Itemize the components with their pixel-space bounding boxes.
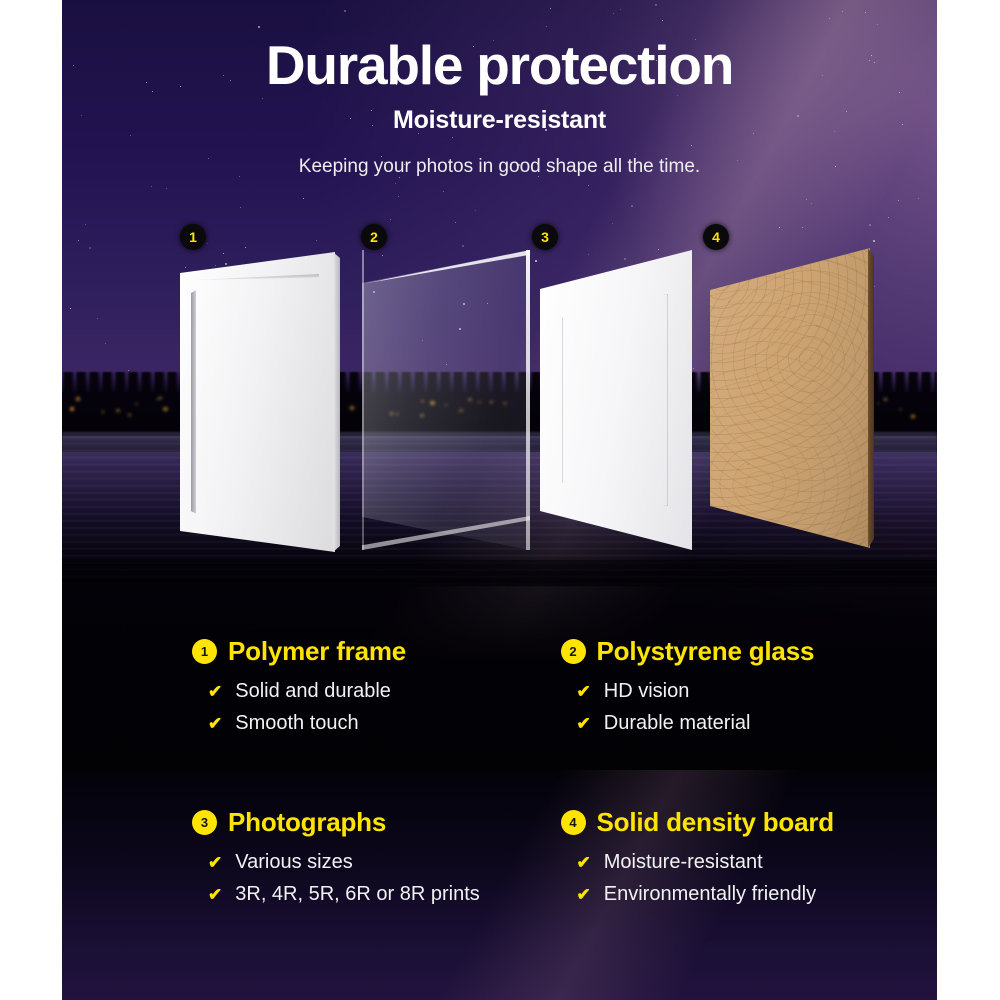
glass-left-edge [362, 250, 364, 550]
feature-heading: 2 Polystyrene glass [561, 636, 912, 667]
check-icon: ✔ [577, 715, 591, 732]
feature-grid: 1 Polymer frame ✔ Solid and durable ✔ Sm… [62, 636, 937, 936]
feature-title: Photographs [228, 807, 386, 838]
feature-heading: 4 Solid density board [561, 807, 912, 838]
feature-title: Polystyrene glass [597, 636, 815, 667]
check-icon: ✔ [208, 886, 222, 903]
callout-badge-3: 3 [532, 224, 558, 250]
mdf-texture [710, 248, 870, 548]
list-item: ✔ HD vision [577, 680, 912, 704]
list-item: ✔ Environmentally friendly [577, 883, 912, 907]
check-icon: ✔ [208, 715, 222, 732]
check-icon: ✔ [577, 854, 591, 871]
bullet-text: Solid and durable [235, 680, 391, 704]
part-polymer-frame [180, 252, 335, 552]
feature-polystyrene-glass: 2 Polystyrene glass ✔ HD vision ✔ Durabl… [561, 636, 912, 765]
bullet-text: 3R, 4R, 5R, 6R or 8R prints [235, 883, 480, 907]
mdf-side-edge [868, 248, 874, 548]
callout-badge-1: 1 [180, 224, 206, 250]
callout-badge-4: 4 [703, 224, 729, 250]
frame-left-bevel [191, 278, 196, 526]
bullet-text: Smooth touch [235, 712, 358, 736]
header: Durable protection Moisture-resistant Ke… [62, 0, 937, 178]
feature-badge-3: 3 [192, 810, 217, 835]
frame-opening [194, 278, 319, 526]
list-item: ✔ Moisture-resistant [577, 851, 912, 875]
page-description: Keeping your photos in good shape all th… [62, 156, 937, 178]
part-polystyrene-glass [362, 250, 530, 550]
feature-heading: 1 Polymer frame [192, 636, 543, 667]
feature-badge-4: 4 [561, 810, 586, 835]
list-item: ✔ Solid and durable [208, 680, 543, 704]
check-icon: ✔ [208, 854, 222, 871]
part-photograph-mat [540, 250, 692, 550]
bullet-text: HD vision [604, 680, 690, 704]
list-item: ✔ Durable material [577, 712, 912, 736]
feature-title: Polymer frame [228, 636, 406, 667]
check-icon: ✔ [208, 683, 222, 700]
bullet-text: Moisture-resistant [604, 851, 763, 875]
bullet-text: Durable material [604, 712, 751, 736]
feature-bullet-list: ✔ Moisture-resistant ✔ Environmentally f… [561, 851, 912, 906]
feature-bullet-list: ✔ Solid and durable ✔ Smooth touch [192, 680, 543, 735]
page-title: Durable protection [62, 0, 937, 93]
frame-right-edge [333, 252, 340, 552]
feature-badge-2: 2 [561, 639, 586, 664]
product-infographic: 1 2 3 4 1 Polymer frame ✔ Solid and dura… [0, 0, 1000, 1000]
list-item: ✔ 3R, 4R, 5R, 6R or 8R prints [208, 883, 543, 907]
feature-title: Solid density board [597, 807, 834, 838]
feature-bullet-list: ✔ HD vision ✔ Durable material [561, 680, 912, 735]
check-icon: ✔ [577, 886, 591, 903]
list-item: ✔ Smooth touch [208, 712, 543, 736]
feature-bullet-list: ✔ Various sizes ✔ 3R, 4R, 5R, 6R or 8R p… [192, 851, 543, 906]
glass-right-edge [526, 250, 530, 550]
part-solid-density-board [710, 248, 870, 548]
check-icon: ✔ [577, 683, 591, 700]
mat-window-cut [562, 294, 668, 506]
feature-heading: 3 Photographs [192, 807, 543, 838]
feature-solid-density-board: 4 Solid density board ✔ Moisture-resista… [561, 807, 912, 936]
feature-photographs: 3 Photographs ✔ Various sizes ✔ 3R, 4R, … [192, 807, 543, 936]
page-subtitle: Moisture-resistant [62, 106, 937, 135]
callout-badge-2: 2 [361, 224, 387, 250]
feature-polymer-frame: 1 Polymer frame ✔ Solid and durable ✔ Sm… [192, 636, 543, 765]
list-item: ✔ Various sizes [208, 851, 543, 875]
bullet-text: Environmentally friendly [604, 883, 816, 907]
bullet-text: Various sizes [235, 851, 352, 875]
feature-badge-1: 1 [192, 639, 217, 664]
glass-pane [362, 250, 530, 550]
